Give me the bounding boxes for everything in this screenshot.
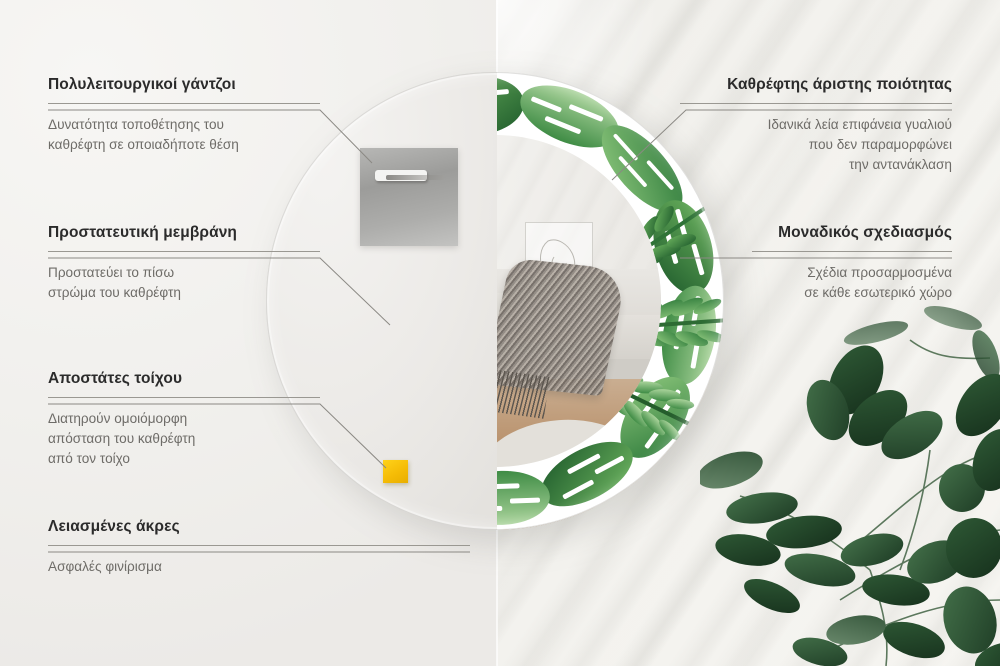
callout-description: Ιδανικά λεία επιφάνεια γυαλιού που δεν π…	[680, 115, 952, 175]
callout-rule	[680, 103, 952, 104]
callout-description: Δυνατότητα τοποθέτησης του καθρέφτη σε ο…	[48, 115, 320, 155]
callout-description: Ασφαλές φινίρισμα	[48, 557, 470, 577]
keyhole-hanger-plate	[360, 148, 458, 246]
callout-description: Διατηρούν ομοιόμορφη απόσταση του καθρέφ…	[48, 409, 320, 469]
callout-rule	[752, 251, 952, 252]
callout-multifunctional-hooks: Πολυλειτουργικοί γάντζοι Δυνατότητα τοπο…	[48, 76, 320, 155]
callout-title: Καθρέφτης άριστης ποιότητας	[680, 76, 952, 94]
callout-unique-design: Μοναδικός σχεδιασμός Σχέδια προσαρμοσμέν…	[752, 224, 952, 303]
callout-polished-edges: Λειασμένες άκρες Ασφαλές φινίρισμα	[48, 518, 470, 577]
callout-description: Σχέδια προσαρμοσμένα σε κάθε εσωτερικό χ…	[752, 263, 952, 303]
round-mirror-product	[266, 72, 724, 530]
callout-rule	[48, 251, 320, 252]
decorative-plant	[700, 300, 1000, 666]
keyhole-slot-shadow	[386, 175, 444, 180]
product-feature-infographic: Πολυλειτουργικοί γάντζοι Δυνατότητα τοπο…	[0, 0, 1000, 666]
callout-title: Αποστάτες τοίχου	[48, 370, 320, 388]
callout-title: Λειασμένες άκρες	[48, 518, 470, 536]
callout-description: Προστατεύει το πίσω στρώμα του καθρέφτη	[48, 263, 320, 303]
callout-title: Πολυλειτουργικοί γάντζοι	[48, 76, 320, 94]
callout-protective-membrane: Προστατευτική μεμβράνη Προστατεύει το πί…	[48, 224, 320, 303]
callout-title: Μοναδικός σχεδιασμός	[752, 224, 952, 242]
callout-top-quality-mirror: Καθρέφτης άριστης ποιότητας Ιδανικά λεία…	[680, 76, 952, 175]
callout-rule	[48, 103, 320, 104]
callout-rule	[48, 545, 470, 546]
callout-title: Προστατευτική μεμβράνη	[48, 224, 320, 242]
callout-rule	[48, 397, 320, 398]
callout-wall-spacers: Αποστάτες τοίχου Διατηρούν ομοιόμορφη απ…	[48, 370, 320, 469]
yellow-wall-spacer	[383, 460, 408, 483]
